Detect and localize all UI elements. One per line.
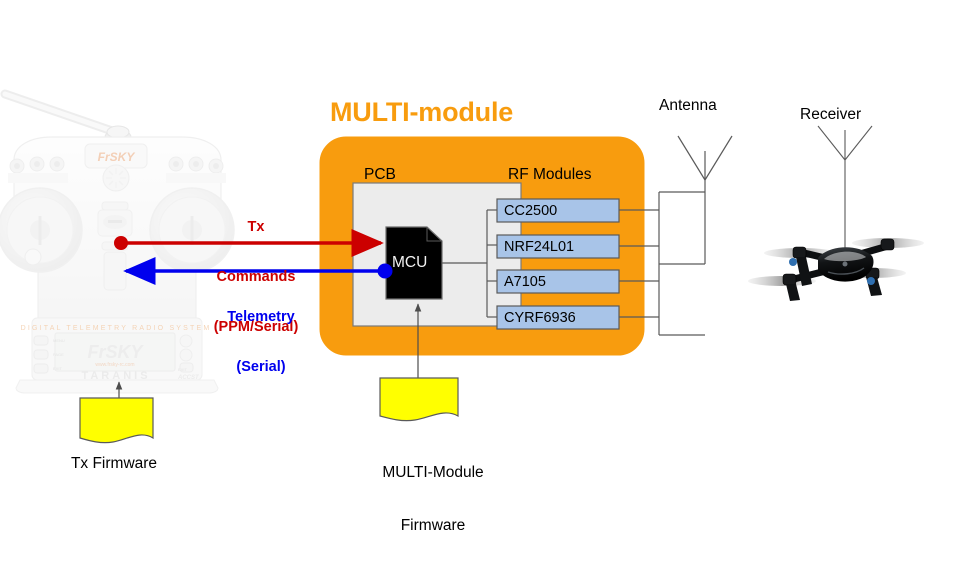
telemetry-line-1: Telemetry [207,309,315,326]
svg-text:MENU: MENU [53,338,65,343]
receiver-label: Receiver [800,106,861,124]
telemetry-label: Telemetry (Serial) [207,276,315,409]
pcb-label: PCB [364,166,396,184]
svg-text:EXIT: EXIT [53,366,62,371]
multi-module-firmware-label: MULTI-Module Firmware [338,428,528,571]
svg-text:www.frsky-rc.com: www.frsky-rc.com [95,362,134,368]
rf-module-label-a7105: A7105 [504,274,546,290]
page-title: MULTI-module [330,97,513,128]
rf-module-label-cc2500: CC2500 [504,203,557,219]
receiver-drone-image [748,126,924,301]
multi-module-firmware-line-1: MULTI-Module [338,464,528,482]
rf-modules-label: RF Modules [508,166,592,184]
multi-module-firmware-line-2: Firmware [338,517,528,535]
antenna-label: Antenna [659,97,717,115]
svg-text:FrSKY: FrSKY [98,150,136,164]
rf-module-label-nrf24l01: NRF24L01 [504,239,574,255]
svg-text:PAGE: PAGE [53,352,64,357]
svg-text:EXIT: EXIT [178,367,187,372]
tx-commands-line-1: Tx [202,219,310,236]
tx-firmware-label: Tx Firmware [38,455,190,473]
multi-module-firmware-doc [380,378,458,421]
mcu-label: MCU [392,254,427,272]
diagram-canvas: FrSKY [0,0,960,540]
antenna-symbol [678,136,732,264]
telemetry-line-2: (Serial) [207,359,315,376]
tx-firmware-doc [80,398,153,443]
rf-module-label-cyrf6936: CYRF6936 [504,310,576,326]
svg-text:FrSKY: FrSKY [87,342,144,362]
svg-text:DIGITAL TELEMETRY RADIO SYSTEM: DIGITAL TELEMETRY RADIO SYSTEM [21,325,212,332]
